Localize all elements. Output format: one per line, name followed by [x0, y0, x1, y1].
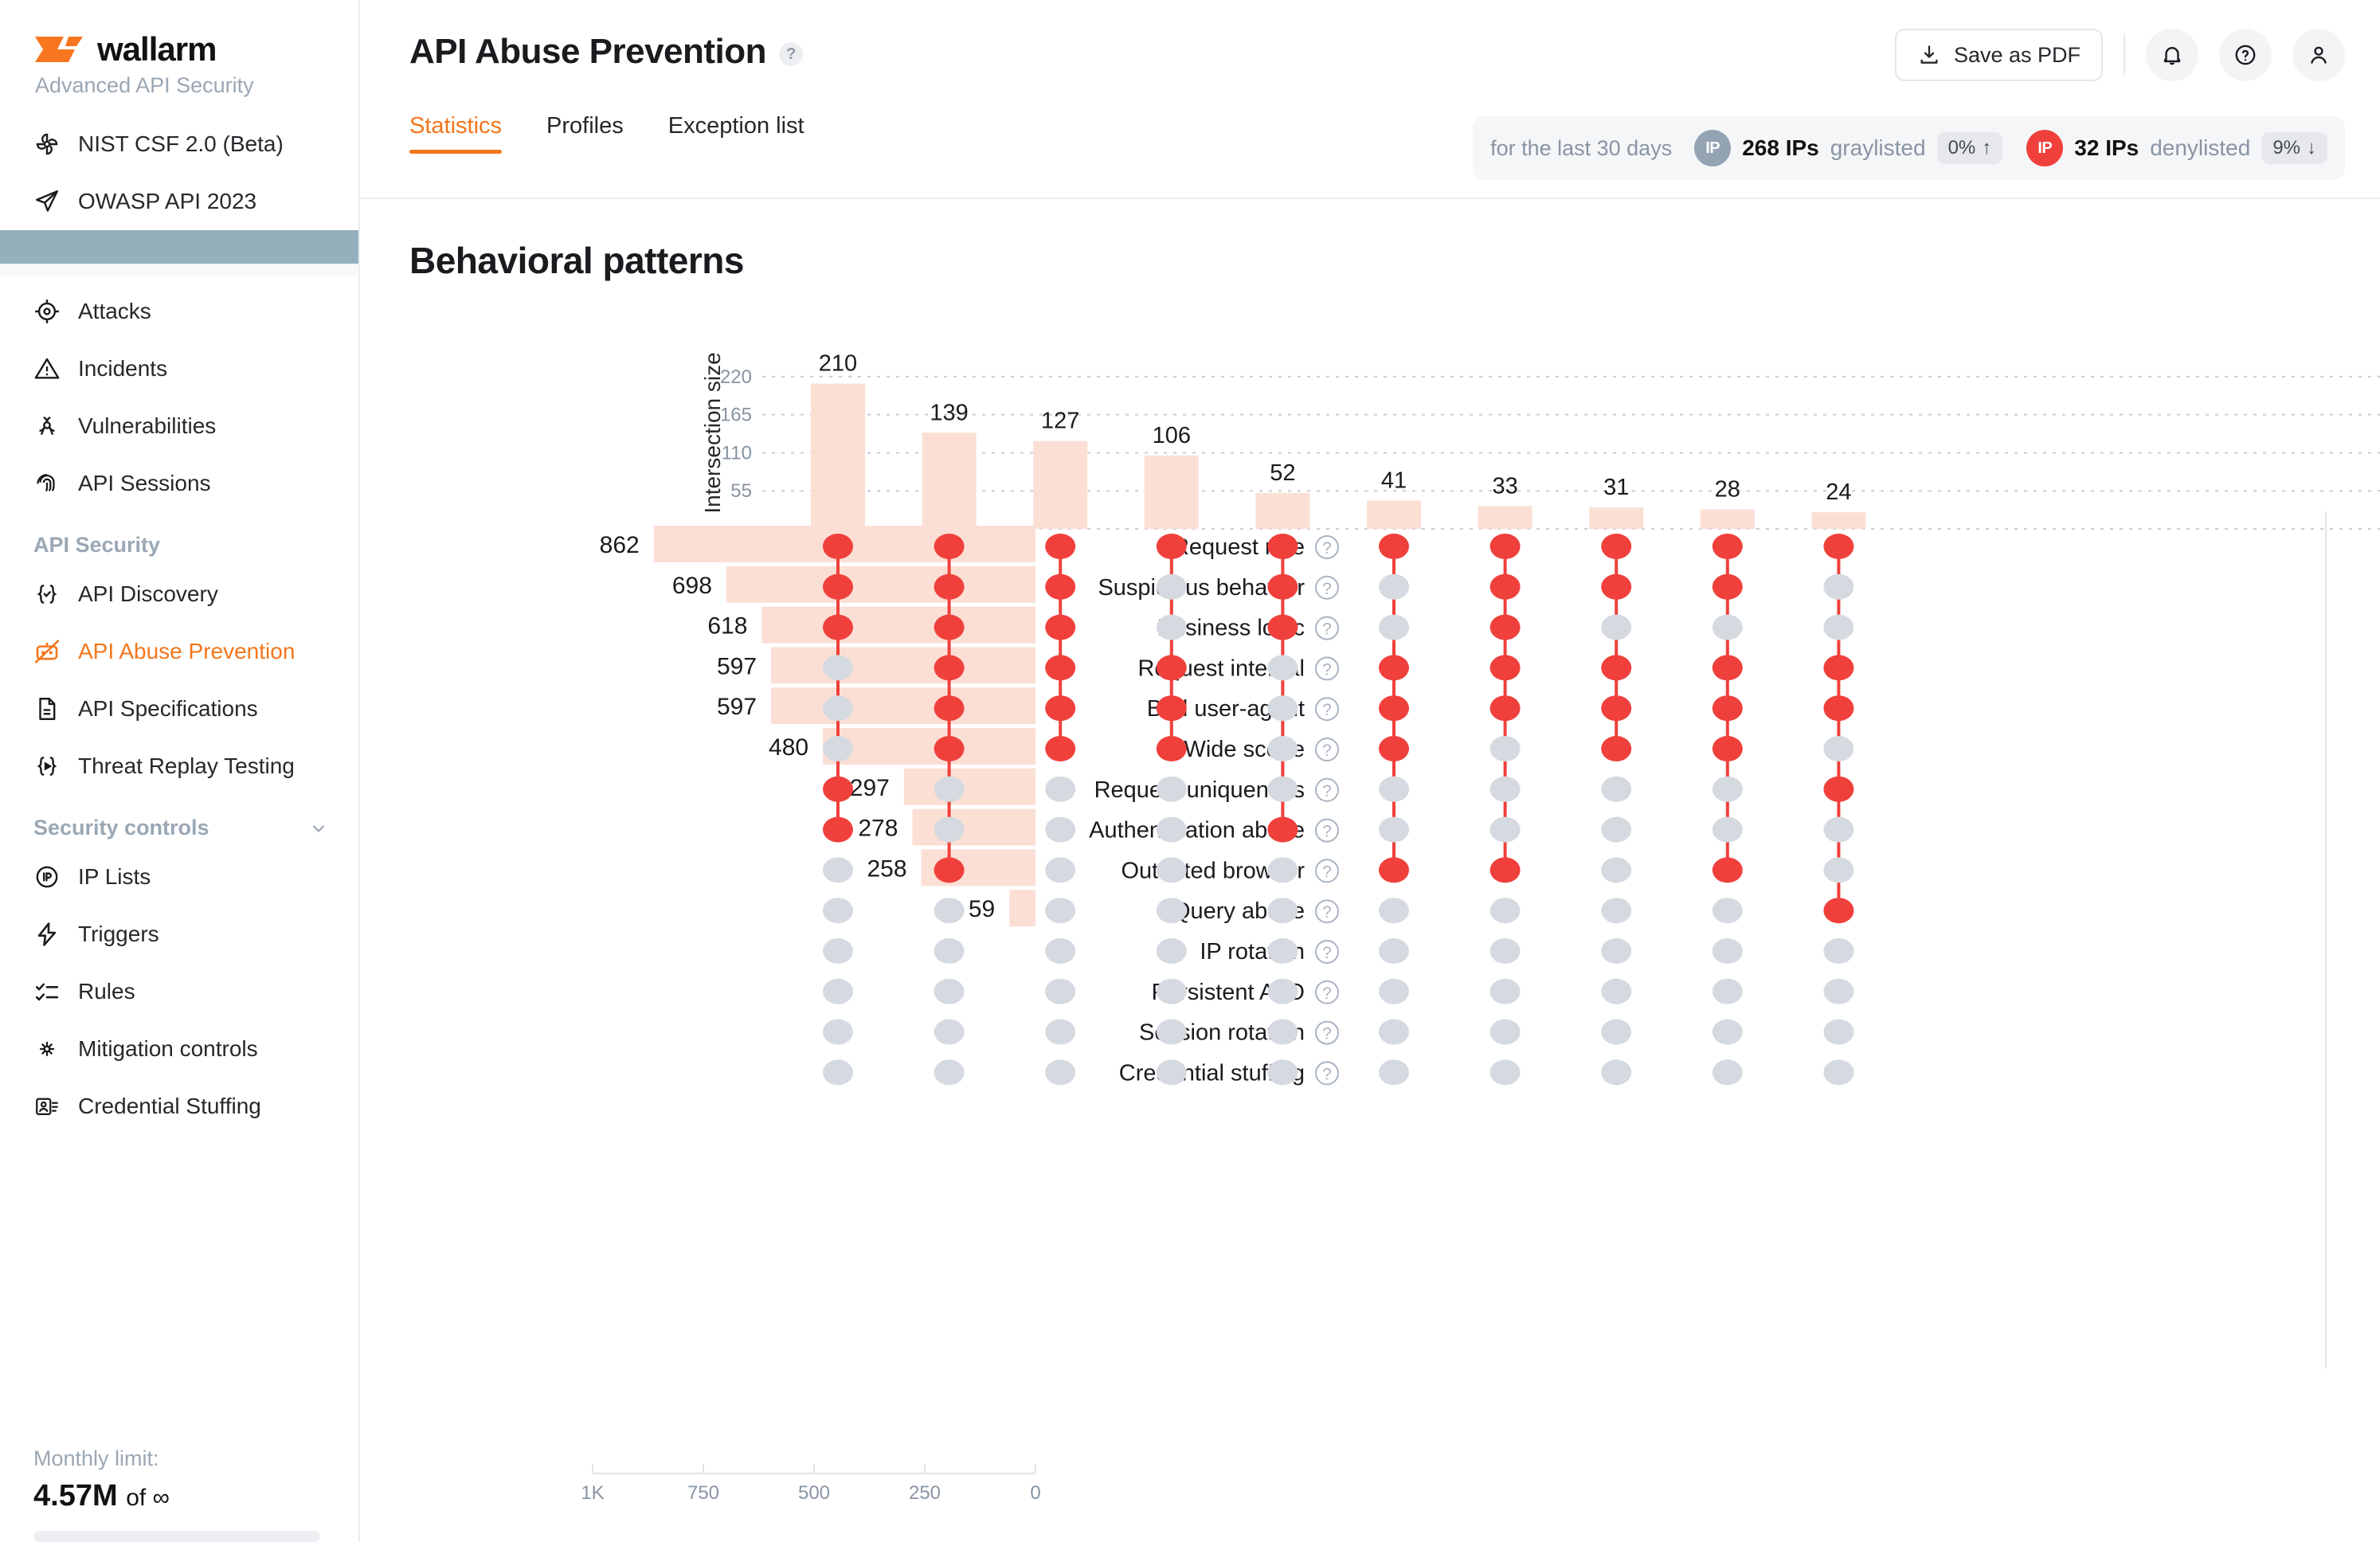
question-mark-glyph: ?: [1322, 742, 1332, 760]
matrix-dot-off[interactable]: [1823, 615, 1854, 640]
sidebar-item-label: API Specifications: [78, 696, 258, 722]
matrix-dot-off[interactable]: [1823, 1020, 1854, 1045]
matrix-dot-on[interactable]: [1823, 695, 1854, 721]
question-mark-glyph: ?: [1322, 823, 1332, 841]
intersection-bar-value: 210: [819, 351, 857, 377]
matrix-dot-off[interactable]: [1713, 817, 1743, 843]
matrix-dot-off[interactable]: [1823, 817, 1854, 843]
sidebar-item-label: Triggers: [78, 922, 159, 947]
matrix-dot-on[interactable]: [1490, 534, 1521, 559]
sidebar-item-label: Credential Stuffing: [78, 1094, 261, 1119]
matrix-dot-off[interactable]: [1379, 817, 1409, 843]
denylisted-pct: 9%: [2272, 137, 2300, 159]
checklist-icon: [33, 978, 61, 1005]
stats-period: for the last 30 days: [1490, 136, 1672, 161]
sidebar-security-controls-nav: IP Lists Triggers Rules: [0, 848, 358, 1135]
matrix-dot-off[interactable]: [1157, 615, 1187, 640]
matrix-dot-off[interactable]: [1601, 938, 1631, 964]
matrix-dot-on[interactable]: [1713, 736, 1743, 761]
intersection-bar-value: 31: [1603, 475, 1629, 500]
matrix-dot-off[interactable]: [1379, 574, 1409, 600]
monthly-limit-widget: Monthly limit: 4.57M of ∞: [0, 1446, 358, 1542]
intersection-bar[interactable]: [1811, 512, 1865, 529]
matrix-dot-on[interactable]: [1267, 615, 1298, 640]
matrix-dot-off[interactable]: [1045, 979, 1075, 1004]
sidebar-item-label: Rules: [78, 979, 135, 1004]
matrix-dot-off[interactable]: [1157, 777, 1187, 802]
matrix-dot-off[interactable]: [1601, 777, 1631, 802]
intersection-bar[interactable]: [1478, 506, 1533, 529]
matrix-dot-off[interactable]: [823, 1020, 853, 1045]
sidebar-item-label: Attacks: [78, 299, 151, 324]
fingerprint-icon: [33, 470, 61, 497]
braces-check-icon: [33, 581, 61, 608]
sidebar-group-label: API Security: [33, 533, 160, 558]
question-mark-glyph: ?: [1322, 580, 1332, 598]
matrix-dot-on[interactable]: [823, 615, 853, 640]
matrix-dot-off[interactable]: [1601, 1059, 1631, 1085]
matrix-dot-off[interactable]: [823, 938, 853, 964]
wallarm-bolt-logo-icon: [33, 33, 86, 65]
matrix-dot-on[interactable]: [1601, 655, 1631, 680]
question-mark-glyph: ?: [1322, 1065, 1332, 1083]
matrix-dot-off[interactable]: [1490, 1059, 1521, 1085]
matrix-dot-on[interactable]: [1045, 695, 1075, 721]
matrix-dot-off[interactable]: [1490, 817, 1521, 843]
matrix-dot-off[interactable]: [1490, 898, 1521, 923]
sidebar-item-api-sessions[interactable]: API Sessions: [0, 455, 358, 512]
matrix-dot-off[interactable]: [1157, 1059, 1187, 1085]
matrix-dot-on[interactable]: [1713, 574, 1743, 600]
compass-icon: [33, 131, 61, 158]
matrix-dot-on[interactable]: [1157, 534, 1187, 559]
matrix-dot-off[interactable]: [1601, 898, 1631, 923]
left-axis-tick-label: 500: [798, 1482, 830, 1504]
matrix-dot-on[interactable]: [1823, 655, 1854, 680]
matrix-dot-off[interactable]: [1601, 1020, 1631, 1045]
matrix-dot-off[interactable]: [1045, 1059, 1075, 1085]
sidebar: wallarm Advanced API Security NIST CSF 2…: [0, 0, 360, 1542]
matrix-dot-off[interactable]: [1157, 817, 1187, 843]
matrix-dot-on[interactable]: [1601, 736, 1631, 761]
question-mark-glyph: ?: [1322, 539, 1332, 558]
topbar-actions: Save as PDF: [1895, 29, 2345, 81]
ip-graylist-icon: IP: [1694, 130, 1731, 166]
sidebar-group-api-security: API Security: [0, 512, 358, 566]
sidebar-item-owasp-api[interactable]: OWASP API 2023: [0, 173, 358, 230]
matrix-dot-on[interactable]: [1379, 695, 1409, 721]
set-size-value: 597: [717, 694, 757, 720]
sidebar-api-security-nav: API Discovery API Abuse Prevention: [0, 566, 358, 795]
matrix-dot-on[interactable]: [934, 857, 965, 883]
y-tick-label: 55: [730, 480, 752, 502]
sidebar-item-api-discovery[interactable]: API Discovery: [0, 566, 358, 623]
sidebar-item-threat-replay-testing[interactable]: Threat Replay Testing: [0, 738, 358, 795]
matrix-dot-on[interactable]: [1157, 736, 1187, 761]
matrix-dot-off[interactable]: [1379, 898, 1409, 923]
matrix-dot-off[interactable]: [1267, 938, 1298, 964]
set-size-bar[interactable]: [912, 809, 1035, 846]
matrix-dot-on[interactable]: [1379, 534, 1409, 559]
sidebar-item-incidents[interactable]: Incidents: [0, 340, 358, 397]
question-mark-glyph: ?: [1322, 1025, 1332, 1043]
matrix-dot-off[interactable]: [1823, 574, 1854, 600]
matrix-dot-off[interactable]: [823, 979, 853, 1004]
question-circle-icon: [2233, 42, 2258, 68]
matrix-dot-off[interactable]: [934, 938, 965, 964]
sidebar-item-rules[interactable]: Rules: [0, 963, 358, 1020]
set-size-value: 59: [969, 896, 995, 922]
matrix-dot-off[interactable]: [1157, 938, 1187, 964]
matrix-dot-off[interactable]: [1823, 979, 1854, 1004]
intersection-bar[interactable]: [1145, 456, 1199, 529]
page-title-text: API Abuse Prevention: [409, 32, 766, 72]
download-icon: [1917, 43, 1941, 67]
matrix-dot-on[interactable]: [1267, 817, 1298, 843]
intersection-bar[interactable]: [1255, 493, 1309, 529]
brand[interactable]: wallarm Advanced API Security: [0, 0, 358, 98]
matrix-dot-off[interactable]: [1379, 979, 1409, 1004]
matrix-dot-on[interactable]: [1267, 574, 1298, 600]
matrix-dot-off[interactable]: [1267, 898, 1298, 923]
matrix-dot-off[interactable]: [823, 1059, 853, 1085]
set-size-bar[interactable]: [771, 647, 1035, 683]
matrix-dot-off[interactable]: [1267, 695, 1298, 721]
matrix-dot-on[interactable]: [1379, 857, 1409, 883]
sidebar-item-label: API Discovery: [78, 581, 218, 607]
matrix-dot-on[interactable]: [1823, 898, 1854, 923]
intersection-bar-value: 24: [1826, 479, 1851, 505]
matrix-dot-off[interactable]: [934, 979, 965, 1004]
matrix-dot-off[interactable]: [1157, 898, 1187, 923]
brand-name: wallarm: [97, 30, 216, 68]
question-mark-glyph: ?: [1322, 863, 1332, 881]
matrix-dot-on[interactable]: [1713, 695, 1743, 721]
matrix-dot-off[interactable]: [1713, 1020, 1743, 1045]
question-mark-glyph: ?: [1322, 660, 1332, 679]
sidebar-item-attacks[interactable]: Attacks: [0, 283, 358, 340]
matrix-dot-off[interactable]: [1713, 898, 1743, 923]
sidebar-group-label: Security controls: [33, 816, 209, 840]
set-size-value: 862: [600, 532, 640, 558]
matrix-dot-off[interactable]: [934, 898, 965, 923]
denylisted-count: 32 IPs: [2074, 135, 2139, 161]
robot-slash-icon: [33, 638, 61, 665]
set-size-value: 480: [769, 734, 808, 761]
upset-plot: 55110165220Intersection size210139127106…: [360, 215, 2380, 1542]
user-icon: [2306, 42, 2331, 68]
set-size-value: 258: [867, 855, 906, 882]
matrix-dot-off[interactable]: [1713, 938, 1743, 964]
matrix-dot-on[interactable]: [1601, 695, 1631, 721]
set-size-bar[interactable]: [726, 566, 1035, 603]
chevron-down-icon[interactable]: [309, 819, 328, 838]
intersection-bar[interactable]: [1367, 500, 1421, 529]
matrix-dot-off[interactable]: [934, 777, 965, 802]
matrix-dot-off[interactable]: [1267, 979, 1298, 1004]
paper-plane-icon: [33, 188, 61, 215]
set-size-bar[interactable]: [1009, 890, 1035, 926]
arrow-up-icon: ↑: [1982, 137, 1991, 159]
monthly-limit-progress: [33, 1531, 320, 1542]
upset-plot-svg: 55110165220Intersection size210139127106…: [360, 215, 2380, 1542]
sidebar-item-label: Mitigation controls: [78, 1036, 258, 1062]
matrix-dot-on[interactable]: [1601, 534, 1631, 559]
sidebar-item-api-specifications[interactable]: API Specifications: [0, 680, 358, 738]
matrix-dot-on[interactable]: [1713, 857, 1743, 883]
arrow-down-icon: ↓: [2307, 137, 2316, 159]
question-mark-glyph: ?: [1322, 620, 1332, 639]
monthly-limit-label: Monthly limit:: [33, 1446, 358, 1471]
intersection-bar[interactable]: [922, 432, 977, 529]
graylisted-word: graylisted: [1830, 135, 1926, 161]
matrix-dot-on[interactable]: [823, 534, 853, 559]
matrix-dot-off[interactable]: [1267, 777, 1298, 802]
set-size-bar[interactable]: [904, 769, 1035, 805]
tab-statistics[interactable]: Statistics: [409, 113, 502, 154]
matrix-dot-on[interactable]: [1490, 857, 1521, 883]
matrix-dot-off[interactable]: [1601, 979, 1631, 1004]
matrix-dot-off[interactable]: [1045, 857, 1075, 883]
sidebar-item-label: Vulnerabilities: [78, 413, 216, 439]
toolbar-divider: [2124, 35, 2125, 75]
sidebar-item-label: Incidents: [78, 356, 167, 382]
matrix-dot-off[interactable]: [1045, 1020, 1075, 1045]
denylisted-change: 9% ↓: [2261, 132, 2327, 164]
sidebar-item-triggers[interactable]: Triggers: [0, 906, 358, 963]
tab-label: Profiles: [546, 113, 624, 139]
matrix-dot-off[interactable]: [1379, 777, 1409, 802]
matrix-dot-off[interactable]: [934, 1059, 965, 1085]
matrix-dot-off[interactable]: [1379, 1059, 1409, 1085]
graylisted-count: 268 IPs: [1742, 135, 1819, 161]
matrix-dot-on[interactable]: [1823, 534, 1854, 559]
matrix-dot-on[interactable]: [934, 655, 965, 680]
tab-label: Exception list: [668, 113, 804, 139]
matrix-dot-off[interactable]: [823, 695, 853, 721]
matrix-dot-off[interactable]: [1045, 777, 1075, 802]
main-content: API Abuse Prevention ? Save as PDF: [360, 0, 2380, 1542]
braces-play-icon: [33, 753, 61, 780]
left-axis-tick-label: 750: [687, 1482, 719, 1504]
set-size-value: 618: [707, 613, 747, 640]
question-mark-glyph: ?: [1322, 903, 1332, 922]
matrix-dot-off[interactable]: [823, 655, 853, 680]
tab-label: Statistics: [409, 113, 502, 139]
brand-tagline: Advanced API Security: [35, 73, 358, 98]
left-axis-tick-label: 0: [1030, 1482, 1040, 1504]
matrix-dot-off[interactable]: [1267, 736, 1298, 761]
matrix-dot-off[interactable]: [1267, 857, 1298, 883]
topbar: API Abuse Prevention ? Save as PDF: [360, 0, 2380, 113]
set-size-value: 297: [850, 775, 890, 801]
matrix-dot-on[interactable]: [934, 736, 965, 761]
help-button[interactable]: [2219, 29, 2272, 81]
user-card-icon: [33, 1093, 61, 1120]
sidebar-item-vulnerabilities[interactable]: Vulnerabilities: [0, 397, 358, 455]
warning-triangle-icon: [33, 355, 61, 382]
matrix-dot-off[interactable]: [1379, 615, 1409, 640]
ip-denylist-icon: IP: [2026, 130, 2063, 166]
document-icon: [33, 695, 61, 722]
matrix-dot-on[interactable]: [1045, 736, 1075, 761]
notifications-button[interactable]: [2146, 29, 2198, 81]
question-mark-glyph: ?: [1322, 944, 1332, 962]
target-icon: [33, 298, 61, 325]
matrix-dot-on[interactable]: [1157, 655, 1187, 680]
set-size-bar[interactable]: [771, 687, 1035, 724]
set-size-value: 698: [672, 573, 712, 599]
matrix-dot-off[interactable]: [1713, 979, 1743, 1004]
matrix-dot-off[interactable]: [1713, 1059, 1743, 1085]
matrix-dot-off[interactable]: [1490, 736, 1521, 761]
save-as-pdf-label: Save as PDF: [1954, 43, 2081, 68]
intersection-bar[interactable]: [811, 384, 865, 529]
matrix-dot-off[interactable]: [1713, 777, 1743, 802]
sidebar-selection-bar: [0, 230, 358, 264]
matrix-dot-off[interactable]: [1267, 1059, 1298, 1085]
matrix-dot-on[interactable]: [1157, 695, 1187, 721]
intersection-bar[interactable]: [1589, 507, 1643, 529]
sidebar-item-credential-stuffing[interactable]: Credential Stuffing: [0, 1078, 358, 1135]
question-mark-glyph: ?: [1322, 782, 1332, 800]
tab-exception-list[interactable]: Exception list: [668, 113, 804, 154]
page-title: API Abuse Prevention ?: [409, 32, 803, 72]
monthly-limit-value: 4.57M: [33, 1479, 118, 1513]
matrix-dot-off[interactable]: [1157, 979, 1187, 1004]
matrix-dot-on[interactable]: [1490, 574, 1521, 600]
matrix-dot-on[interactable]: [823, 777, 853, 802]
matrix-dot-off[interactable]: [1601, 857, 1631, 883]
matrix-dot-off[interactable]: [1045, 817, 1075, 843]
matrix-dot-on[interactable]: [1045, 574, 1075, 600]
sidebar-selection-bar-shadow: [0, 264, 358, 276]
matrix-dot-off[interactable]: [1045, 938, 1075, 964]
ip-circle-icon: [33, 863, 61, 890]
matrix-dot-off[interactable]: [1157, 1020, 1187, 1045]
matrix-dot-on[interactable]: [934, 534, 965, 559]
set-size-bar[interactable]: [761, 607, 1035, 644]
matrix-dot-off[interactable]: [1045, 898, 1075, 923]
sidebar-item-mitigation-controls[interactable]: Mitigation controls: [0, 1020, 358, 1078]
monthly-limit-of: of ∞: [126, 1485, 170, 1511]
matrix-dot-off[interactable]: [1823, 857, 1854, 883]
intersection-bar-value: 28: [1715, 477, 1740, 503]
matrix-dot-on[interactable]: [1045, 534, 1075, 559]
sidebar-item-nist-csf[interactable]: NIST CSF 2.0 (Beta): [0, 115, 358, 173]
matrix-dot-off[interactable]: [934, 817, 965, 843]
sidebar-top-nav: NIST CSF 2.0 (Beta) OWASP API 2023: [0, 115, 358, 230]
intersection-bar-value: 52: [1270, 460, 1295, 486]
sidebar-item-api-abuse-prevention[interactable]: API Abuse Prevention: [0, 623, 358, 680]
stats-strip: for the last 30 days IP 268 IPs graylist…: [1473, 116, 2345, 180]
tab-profiles[interactable]: Profiles: [546, 113, 624, 154]
network-node-icon: [33, 1035, 61, 1063]
matrix-dot-on[interactable]: [1045, 615, 1075, 640]
matrix-dot-on[interactable]: [1379, 736, 1409, 761]
set-size-bar[interactable]: [823, 728, 1035, 765]
matrix-dot-off[interactable]: [1713, 615, 1743, 640]
matrix-dot-off[interactable]: [1379, 1020, 1409, 1045]
question-circle-icon[interactable]: ?: [779, 42, 803, 66]
matrix-dot-off[interactable]: [1490, 1020, 1521, 1045]
matrix-dot-on[interactable]: [1713, 534, 1743, 559]
denylisted-stat[interactable]: IP 32 IPs denylisted 9% ↓: [2026, 130, 2327, 166]
biohazard-icon: [33, 413, 61, 440]
header-divider: [360, 198, 2380, 199]
graylisted-change: 0% ↑: [1937, 132, 2003, 164]
matrix-dot-on[interactable]: [1823, 777, 1854, 802]
left-axis-tick-label: 1K: [581, 1482, 604, 1504]
matrix-dot-off[interactable]: [934, 1020, 965, 1045]
matrix-dot-off[interactable]: [1379, 938, 1409, 964]
matrix-dot-off[interactable]: [1823, 736, 1854, 761]
matrix-dot-off[interactable]: [1490, 777, 1521, 802]
matrix-dot-off[interactable]: [1267, 1020, 1298, 1045]
sidebar-item-label: NIST CSF 2.0 (Beta): [78, 131, 284, 157]
set-size-value: 278: [858, 816, 898, 842]
matrix-dot-on[interactable]: [823, 574, 853, 600]
matrix-dot-on[interactable]: [1490, 655, 1521, 680]
matrix-dot-on[interactable]: [1713, 655, 1743, 680]
sidebar-item-ip-lists[interactable]: IP Lists: [0, 848, 358, 906]
matrix-dot-on[interactable]: [934, 574, 965, 600]
sidebar-item-label: API Abuse Prevention: [78, 639, 295, 664]
matrix-dot-off[interactable]: [1823, 1059, 1854, 1085]
matrix-dot-off[interactable]: [1490, 938, 1521, 964]
monthly-limit-value-row: 4.57M of ∞: [33, 1479, 358, 1513]
matrix-dot-on[interactable]: [934, 695, 965, 721]
intersection-bar-value: 33: [1492, 473, 1517, 499]
sidebar-item-label: OWASP API 2023: [78, 189, 256, 214]
intersection-bar-value: 127: [1041, 409, 1079, 434]
save-as-pdf-button[interactable]: Save as PDF: [1895, 29, 2103, 81]
matrix-dot-off[interactable]: [1601, 817, 1631, 843]
y-tick-label: 110: [722, 442, 752, 464]
matrix-dot-off[interactable]: [823, 898, 853, 923]
bell-icon: [2159, 42, 2185, 68]
matrix-dot-off[interactable]: [1490, 979, 1521, 1004]
matrix-dot-off[interactable]: [1601, 615, 1631, 640]
lightning-icon: [33, 921, 61, 948]
matrix-dot-off[interactable]: [1267, 655, 1298, 680]
account-button[interactable]: [2292, 29, 2345, 81]
matrix-dot-off[interactable]: [823, 736, 853, 761]
sidebar-group-security-controls[interactable]: Security controls: [0, 795, 358, 848]
matrix-dot-on[interactable]: [1601, 574, 1631, 600]
graylisted-stat[interactable]: IP 268 IPs graylisted 0% ↑: [1694, 130, 2002, 166]
brand-logo: wallarm: [33, 30, 358, 68]
intersection-bar[interactable]: [1033, 441, 1087, 529]
matrix-dot-on[interactable]: [1045, 655, 1075, 680]
denylisted-word: denylisted: [2150, 135, 2250, 161]
matrix-dot-on[interactable]: [1267, 534, 1298, 559]
matrix-dot-off[interactable]: [1157, 574, 1187, 600]
matrix-dot-on[interactable]: [934, 615, 965, 640]
sidebar-item-label: Threat Replay Testing: [78, 753, 295, 779]
matrix-dot-off[interactable]: [823, 857, 853, 883]
intersection-bar[interactable]: [1701, 510, 1755, 529]
sidebar-main-nav: Attacks Incidents Vulnerabilities: [0, 283, 358, 512]
question-mark-glyph: ?: [1322, 984, 1332, 1003]
matrix-dot-on[interactable]: [823, 817, 853, 843]
matrix-dot-off[interactable]: [1823, 938, 1854, 964]
matrix-dot-on[interactable]: [1490, 615, 1521, 640]
intersection-bar-value: 106: [1153, 423, 1191, 448]
matrix-dot-off[interactable]: [1157, 857, 1187, 883]
matrix-dot-on[interactable]: [1379, 655, 1409, 680]
matrix-dot-on[interactable]: [1490, 695, 1521, 721]
